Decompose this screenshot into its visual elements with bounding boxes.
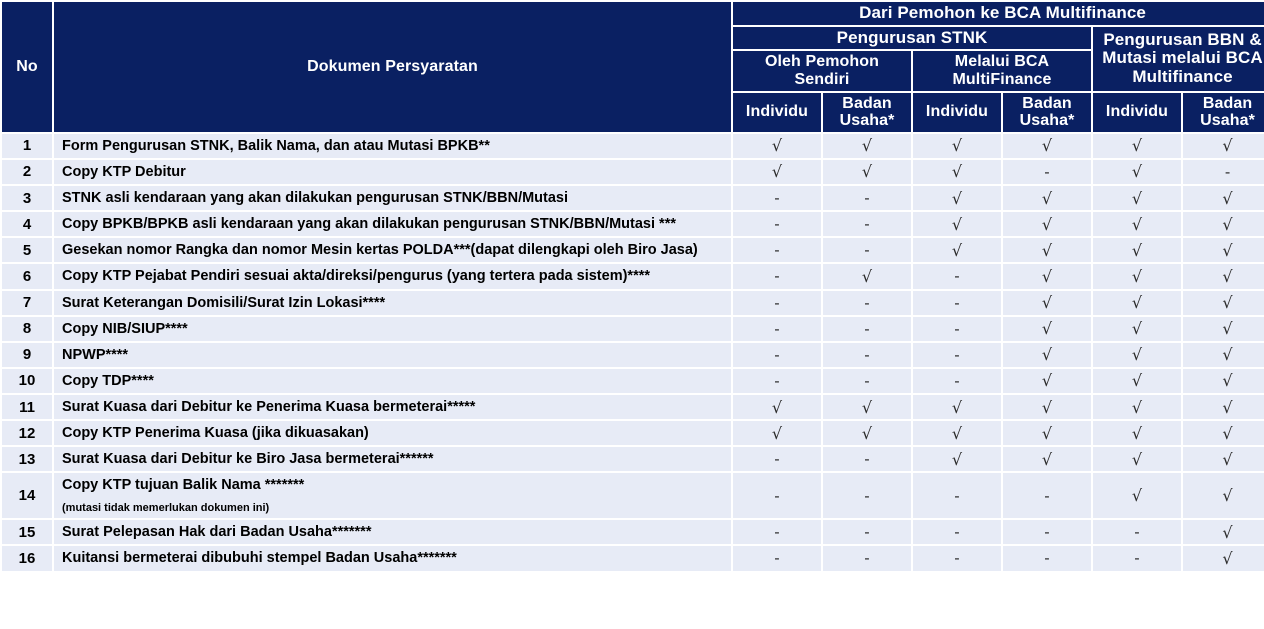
- document-requirement-text: Surat Kuasa dari Debitur ke Biro Jasa be…: [62, 451, 434, 467]
- column-header-badan-usaha-bbn: Badan Usaha*: [1183, 93, 1264, 132]
- row-number: 3: [2, 186, 52, 210]
- row-number: 4: [2, 212, 52, 236]
- cell-required-checkmark: √: [1093, 160, 1181, 184]
- cell-not-required: -: [733, 546, 821, 570]
- table-body: 1Form Pengurusan STNK, Balik Nama, dan a…: [2, 134, 1264, 571]
- cell-not-required: -: [913, 369, 1001, 393]
- cell-not-required: -: [823, 212, 911, 236]
- cell-not-required: -: [733, 238, 821, 262]
- document-requirement-text: Copy KTP Debitur: [62, 164, 186, 180]
- document-requirement-label: Surat Kuasa dari Debitur ke Biro Jasa be…: [54, 447, 731, 471]
- document-requirement-text: Kuitansi bermeterai dibubuhi stempel Bad…: [62, 550, 457, 566]
- group-header-dari-pemohon-ke-bca-multifinance: Dari Pemohon ke BCA Multifinance: [733, 2, 1264, 25]
- cell-not-required: -: [913, 264, 1001, 288]
- cell-required-checkmark: √: [1093, 369, 1181, 393]
- table-row: 4Copy BPKB/BPKB asli kendaraan yang akan…: [2, 212, 1264, 236]
- subgroup-header-melalui-bca-multifinance: Melalui BCA MultiFinance: [913, 51, 1091, 90]
- cell-not-required: -: [733, 343, 821, 367]
- cell-required-checkmark: √: [1003, 343, 1091, 367]
- cell-required-checkmark: √: [1093, 421, 1181, 445]
- cell-required-checkmark: √: [1003, 291, 1091, 315]
- cell-required-checkmark: √: [1183, 317, 1264, 341]
- row-number: 7: [2, 291, 52, 315]
- cell-not-required: -: [733, 317, 821, 341]
- cell-required-checkmark: √: [823, 264, 911, 288]
- cell-not-required: -: [913, 317, 1001, 341]
- cell-required-checkmark: √: [913, 160, 1001, 184]
- cell-required-checkmark: √: [1003, 238, 1091, 262]
- cell-required-checkmark: √: [823, 160, 911, 184]
- cell-required-checkmark: √: [1183, 520, 1264, 544]
- document-requirement-label: STNK asli kendaraan yang akan dilakukan …: [54, 186, 731, 210]
- cell-not-required: -: [733, 520, 821, 544]
- cell-required-checkmark: √: [1183, 343, 1264, 367]
- document-requirement-text: Copy BPKB/BPKB asli kendaraan yang akan …: [62, 216, 676, 232]
- cell-required-checkmark: √: [1183, 238, 1264, 262]
- cell-not-required: -: [823, 186, 911, 210]
- cell-required-checkmark: √: [1093, 212, 1181, 236]
- cell-not-required: -: [1003, 520, 1091, 544]
- table-row: 9NPWP****---√√√: [2, 343, 1264, 367]
- cell-not-required: -: [913, 291, 1001, 315]
- cell-required-checkmark: √: [913, 395, 1001, 419]
- cell-required-checkmark: √: [1183, 546, 1264, 570]
- cell-required-checkmark: √: [1093, 186, 1181, 210]
- cell-required-checkmark: √: [1093, 134, 1181, 158]
- table-row: 5Gesekan nomor Rangka dan nomor Mesin ke…: [2, 238, 1264, 262]
- document-requirement-label: NPWP****: [54, 343, 731, 367]
- document-requirement-text: STNK asli kendaraan yang akan dilakukan …: [62, 190, 568, 206]
- table-row: 2Copy KTP Debitur√√√-√-: [2, 160, 1264, 184]
- table-row: 1Form Pengurusan STNK, Balik Nama, dan a…: [2, 134, 1264, 158]
- requirements-matrix-table: No Dokumen Persyaratan Dari Pemohon ke B…: [0, 0, 1264, 573]
- cell-required-checkmark: √: [913, 212, 1001, 236]
- cell-required-checkmark: √: [1183, 369, 1264, 393]
- cell-required-checkmark: √: [1183, 264, 1264, 288]
- cell-not-required: -: [733, 447, 821, 471]
- cell-not-required: -: [1093, 520, 1181, 544]
- document-requirement-text: Copy KTP Pejabat Pendiri sesuai akta/dir…: [62, 268, 650, 284]
- header-row-1: No Dokumen Persyaratan Dari Pemohon ke B…: [2, 2, 1264, 25]
- document-requirement-label: Copy KTP Debitur: [54, 160, 731, 184]
- cell-not-required: -: [733, 369, 821, 393]
- document-requirement-label: Copy TDP****: [54, 369, 731, 393]
- cell-required-checkmark: √: [1003, 317, 1091, 341]
- cell-required-checkmark: √: [1183, 186, 1264, 210]
- row-number: 12: [2, 421, 52, 445]
- cell-required-checkmark: √: [913, 238, 1001, 262]
- cell-required-checkmark: √: [1093, 291, 1181, 315]
- document-page: No Dokumen Persyaratan Dari Pemohon ke B…: [0, 0, 1264, 629]
- cell-not-required: -: [823, 238, 911, 262]
- cell-required-checkmark: √: [1003, 186, 1091, 210]
- table-row: 10Copy TDP****---√√√: [2, 369, 1264, 393]
- cell-not-required: -: [733, 473, 821, 518]
- cell-required-checkmark: √: [1003, 421, 1091, 445]
- cell-not-required: -: [823, 473, 911, 518]
- subgroup-header-oleh-pemohon-sendiri: Oleh Pemohon Sendiri: [733, 51, 911, 90]
- row-number: 10: [2, 369, 52, 393]
- table-row: 16Kuitansi bermeterai dibubuhi stempel B…: [2, 546, 1264, 570]
- cell-not-required: -: [913, 546, 1001, 570]
- cell-not-required: -: [823, 447, 911, 471]
- cell-required-checkmark: √: [1093, 447, 1181, 471]
- cell-required-checkmark: √: [733, 160, 821, 184]
- cell-not-required: -: [823, 291, 911, 315]
- cell-not-required: -: [733, 291, 821, 315]
- cell-not-required: -: [1093, 546, 1181, 570]
- table-row: 14Copy KTP tujuan Balik Nama *******(mut…: [2, 473, 1264, 518]
- table-row: 12Copy KTP Penerima Kuasa (jika dikuasak…: [2, 421, 1264, 445]
- cell-required-checkmark: √: [733, 134, 821, 158]
- cell-required-checkmark: √: [1003, 447, 1091, 471]
- document-requirement-label: Kuitansi bermeterai dibubuhi stempel Bad…: [54, 546, 731, 570]
- cell-required-checkmark: √: [1003, 264, 1091, 288]
- cell-required-checkmark: √: [1093, 473, 1181, 518]
- cell-required-checkmark: √: [1093, 238, 1181, 262]
- document-requirement-text: Copy KTP tujuan Balik Nama *******: [62, 477, 304, 493]
- document-requirement-text: Surat Keterangan Domisili/Surat Izin Lok…: [62, 295, 385, 311]
- row-number: 15: [2, 520, 52, 544]
- row-number: 16: [2, 546, 52, 570]
- table-row: 3STNK asli kendaraan yang akan dilakukan…: [2, 186, 1264, 210]
- table-row: 11Surat Kuasa dari Debitur ke Penerima K…: [2, 395, 1264, 419]
- cell-required-checkmark: √: [1093, 343, 1181, 367]
- cell-required-checkmark: √: [913, 134, 1001, 158]
- document-requirement-text: Copy TDP****: [62, 373, 154, 389]
- row-number: 8: [2, 317, 52, 341]
- cell-required-checkmark: √: [733, 395, 821, 419]
- cell-required-checkmark: √: [1183, 134, 1264, 158]
- column-header-badan-usaha-sendiri: Badan Usaha*: [823, 93, 911, 132]
- cell-required-checkmark: √: [1003, 395, 1091, 419]
- document-requirement-label: Form Pengurusan STNK, Balik Nama, dan at…: [54, 134, 731, 158]
- document-requirement-label: Copy KTP Pejabat Pendiri sesuai akta/dir…: [54, 264, 731, 288]
- row-number: 9: [2, 343, 52, 367]
- row-number: 11: [2, 395, 52, 419]
- table-row: 8Copy NIB/SIUP****---√√√: [2, 317, 1264, 341]
- cell-required-checkmark: √: [913, 186, 1001, 210]
- cell-required-checkmark: √: [823, 134, 911, 158]
- cell-required-checkmark: √: [1003, 212, 1091, 236]
- document-requirement-text: NPWP****: [62, 347, 128, 363]
- document-requirement-label: Surat Keterangan Domisili/Surat Izin Lok…: [54, 291, 731, 315]
- cell-required-checkmark: √: [1183, 212, 1264, 236]
- document-requirement-label: Gesekan nomor Rangka dan nomor Mesin ker…: [54, 238, 731, 262]
- row-number: 6: [2, 264, 52, 288]
- cell-not-required: -: [733, 212, 821, 236]
- cell-required-checkmark: √: [1183, 291, 1264, 315]
- document-requirement-label: Surat Kuasa dari Debitur ke Penerima Kua…: [54, 395, 731, 419]
- cell-not-required: -: [913, 473, 1001, 518]
- row-number: 13: [2, 447, 52, 471]
- document-requirement-label: Copy KTP tujuan Balik Nama *******(mutas…: [54, 473, 731, 518]
- cell-required-checkmark: √: [823, 421, 911, 445]
- column-header-no: No: [2, 2, 52, 132]
- group-header-pengurusan-bbn-mutasi: Pengurusan BBN & Mutasi melalui BCA Mult…: [1093, 27, 1264, 91]
- cell-not-required: -: [1183, 160, 1264, 184]
- table-row: 15Surat Pelepasan Hak dari Badan Usaha**…: [2, 520, 1264, 544]
- table-row: 6Copy KTP Pejabat Pendiri sesuai akta/di…: [2, 264, 1264, 288]
- cell-required-checkmark: √: [1003, 369, 1091, 393]
- cell-required-checkmark: √: [1183, 421, 1264, 445]
- table-header: No Dokumen Persyaratan Dari Pemohon ke B…: [2, 2, 1264, 132]
- cell-not-required: -: [823, 546, 911, 570]
- column-header-individu-sendiri: Individu: [733, 93, 821, 132]
- document-requirement-text: Surat Kuasa dari Debitur ke Penerima Kua…: [62, 399, 475, 415]
- cell-required-checkmark: √: [1093, 395, 1181, 419]
- column-header-dokumen-persyaratan: Dokumen Persyaratan: [54, 2, 731, 132]
- cell-required-checkmark: √: [1183, 447, 1264, 471]
- cell-required-checkmark: √: [1183, 473, 1264, 518]
- cell-required-checkmark: √: [1093, 264, 1181, 288]
- document-requirement-label: Copy BPKB/BPKB asli kendaraan yang akan …: [54, 212, 731, 236]
- cell-not-required: -: [823, 317, 911, 341]
- document-requirement-label: Surat Pelepasan Hak dari Badan Usaha****…: [54, 520, 731, 544]
- cell-required-checkmark: √: [1183, 395, 1264, 419]
- cell-not-required: -: [913, 343, 1001, 367]
- cell-not-required: -: [913, 520, 1001, 544]
- row-number: 2: [2, 160, 52, 184]
- group-header-pengurusan-stnk: Pengurusan STNK: [733, 27, 1091, 50]
- cell-required-checkmark: √: [823, 395, 911, 419]
- cell-required-checkmark: √: [1093, 317, 1181, 341]
- cell-not-required: -: [823, 343, 911, 367]
- cell-required-checkmark: √: [1003, 134, 1091, 158]
- column-header-badan-usaha-melalui: Badan Usaha*: [1003, 93, 1091, 132]
- column-header-individu-melalui: Individu: [913, 93, 1001, 132]
- cell-not-required: -: [733, 264, 821, 288]
- document-requirement-text: Gesekan nomor Rangka dan nomor Mesin ker…: [62, 242, 698, 258]
- cell-not-required: -: [1003, 546, 1091, 570]
- cell-required-checkmark: √: [733, 421, 821, 445]
- document-requirement-text: Copy KTP Penerima Kuasa (jika dikuasakan…: [62, 425, 369, 441]
- document-requirement-text: Surat Pelepasan Hak dari Badan Usaha****…: [62, 524, 371, 540]
- document-requirement-note: (mutasi tidak memerlukan dokumen ini): [62, 502, 725, 516]
- cell-not-required: -: [733, 186, 821, 210]
- cell-not-required: -: [1003, 160, 1091, 184]
- column-header-individu-bbn: Individu: [1093, 93, 1181, 132]
- cell-not-required: -: [1003, 473, 1091, 518]
- row-number: 5: [2, 238, 52, 262]
- table-row: 13Surat Kuasa dari Debitur ke Biro Jasa …: [2, 447, 1264, 471]
- document-requirement-text: Form Pengurusan STNK, Balik Nama, dan at…: [62, 138, 490, 154]
- table-row: 7Surat Keterangan Domisili/Surat Izin Lo…: [2, 291, 1264, 315]
- document-requirement-label: Copy NIB/SIUP****: [54, 317, 731, 341]
- row-number: 1: [2, 134, 52, 158]
- cell-required-checkmark: √: [913, 447, 1001, 471]
- cell-not-required: -: [823, 520, 911, 544]
- row-number: 14: [2, 473, 52, 518]
- cell-required-checkmark: √: [913, 421, 1001, 445]
- document-requirement-label: Copy KTP Penerima Kuasa (jika dikuasakan…: [54, 421, 731, 445]
- cell-not-required: -: [823, 369, 911, 393]
- document-requirement-text: Copy NIB/SIUP****: [62, 321, 188, 337]
